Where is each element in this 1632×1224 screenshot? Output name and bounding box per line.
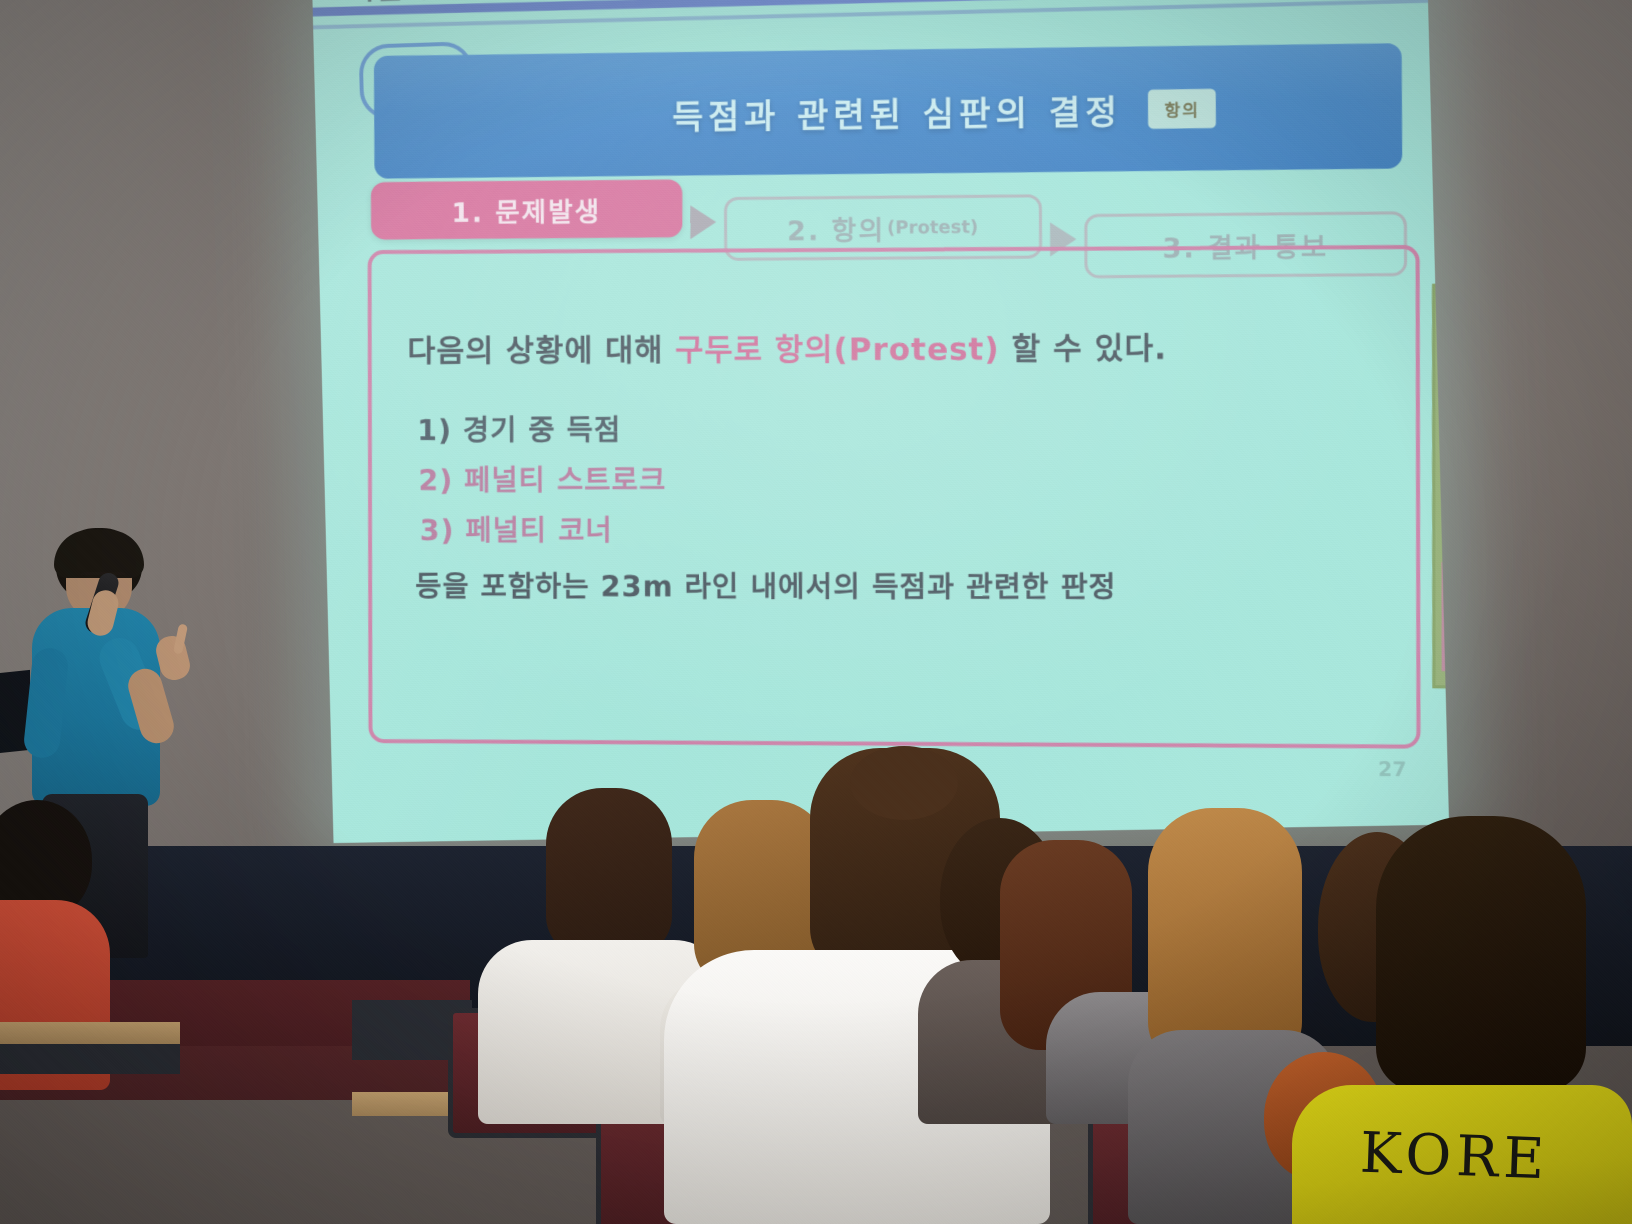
audience-hair-bun [850,746,958,820]
step-2-sublabel: (Protest) [887,216,978,238]
presenter-hair-top [54,530,144,578]
audience-head [1376,816,1586,1092]
lead-before: 다음의 상황에 대해 [407,333,675,370]
step-2-label: 2. 항의 [787,208,885,248]
lead-sentence: 다음의 상황에 대해 구두로 항의(Protest) 할 수 있다. [407,323,1167,371]
lecture-hall-photo: 이론 및 실습 Ⅱ. 종목별 교육 I 득점과 관련된 심판의 결정 항의 1.… [0,0,1632,1224]
list-item: 2) 페널티 스트로크 [418,457,666,499]
step-arrow-1-icon [690,205,716,239]
slide-title: 득점과 관련된 심판의 결정 [672,84,1122,138]
slide-page-number: 27 [1378,757,1406,781]
list-item: 1) 경기 중 득점 [417,407,621,449]
desk-front [0,1044,180,1074]
lead-accent: 구두로 항의(Protest) [675,332,1000,369]
audience-head [1148,808,1302,1068]
korea-jersey-text: KORE [1359,1121,1550,1193]
desk [0,1022,180,1044]
summary-sentence: 등을 포함하는 23m 라인 내에서의 득점과 관련한 판정 [415,563,1116,606]
step-1-label: 1. 문제발생 [451,190,601,230]
list-item: 3) 페널티 코너 [420,507,613,549]
slide-title-badge: 항의 [1148,88,1216,128]
lead-after: 할 수 있다. [1000,331,1168,368]
projected-slide: 이론 및 실습 Ⅱ. 종목별 교육 I 득점과 관련된 심판의 결정 항의 1.… [312,0,1449,843]
step-chip-1: 1. 문제발생 [371,179,683,239]
audience-head [546,788,672,956]
slide-title-bar: 득점과 관련된 심판의 결정 항의 [374,43,1402,178]
